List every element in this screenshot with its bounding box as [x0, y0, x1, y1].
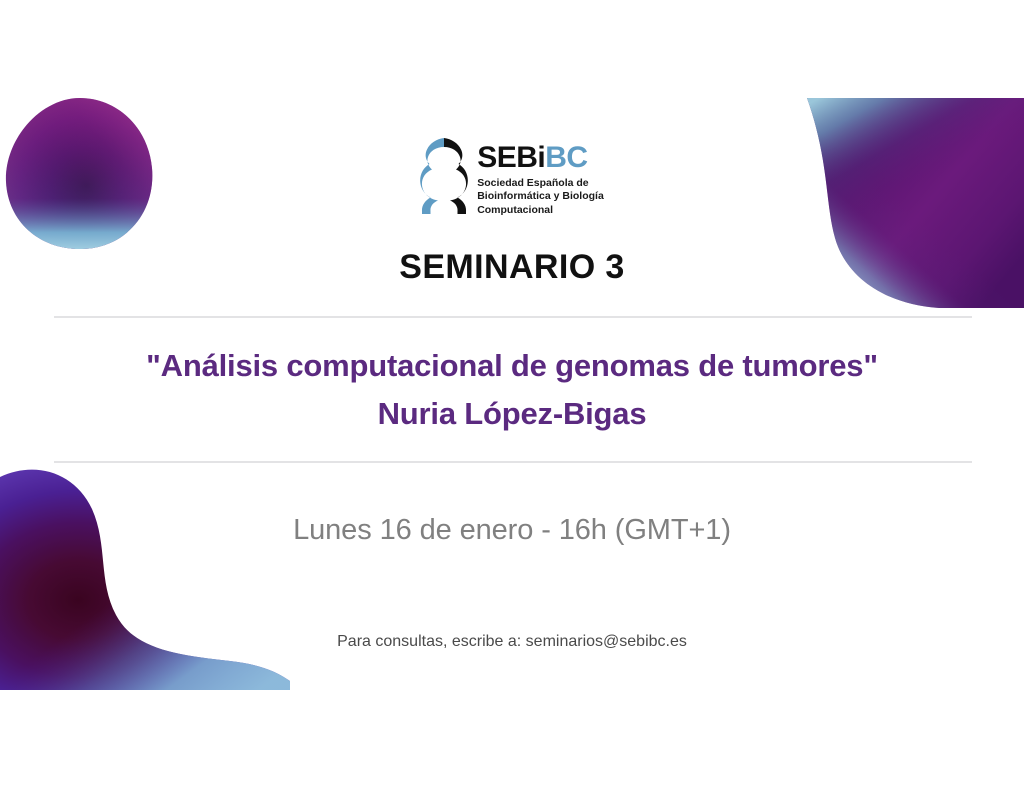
- sebibc-wordmark: SEBiBC: [477, 143, 604, 173]
- seminar-heading: SEMINARIO 3: [0, 248, 1024, 287]
- wordmark-seb: SEB: [477, 141, 537, 174]
- wordmark-bc: BC: [545, 141, 587, 174]
- seminar-datetime: Lunes 16 de enero - 16h (GMT+1): [0, 514, 1024, 547]
- sebibc-subtitle: Sociedad Española de Bioinformática y Bi…: [477, 177, 604, 217]
- speaker-name: Nuria López-Bigas: [0, 396, 1024, 432]
- divider-bottom: [54, 461, 972, 463]
- page-blank-area: [0, 690, 1024, 800]
- sebibc-logo: SEBiBC Sociedad Española de Bioinformáti…: [0, 138, 1024, 217]
- divider-top: [54, 316, 972, 318]
- seminar-announcement-slide: SEBiBC Sociedad Española de Bioinformáti…: [0, 0, 1024, 690]
- dna-helix-icon: [420, 138, 468, 214]
- talk-title: "Análisis computacional de genomas de tu…: [0, 348, 1024, 384]
- contact-line: Para consultas, escribe a: seminarios@se…: [0, 633, 1024, 651]
